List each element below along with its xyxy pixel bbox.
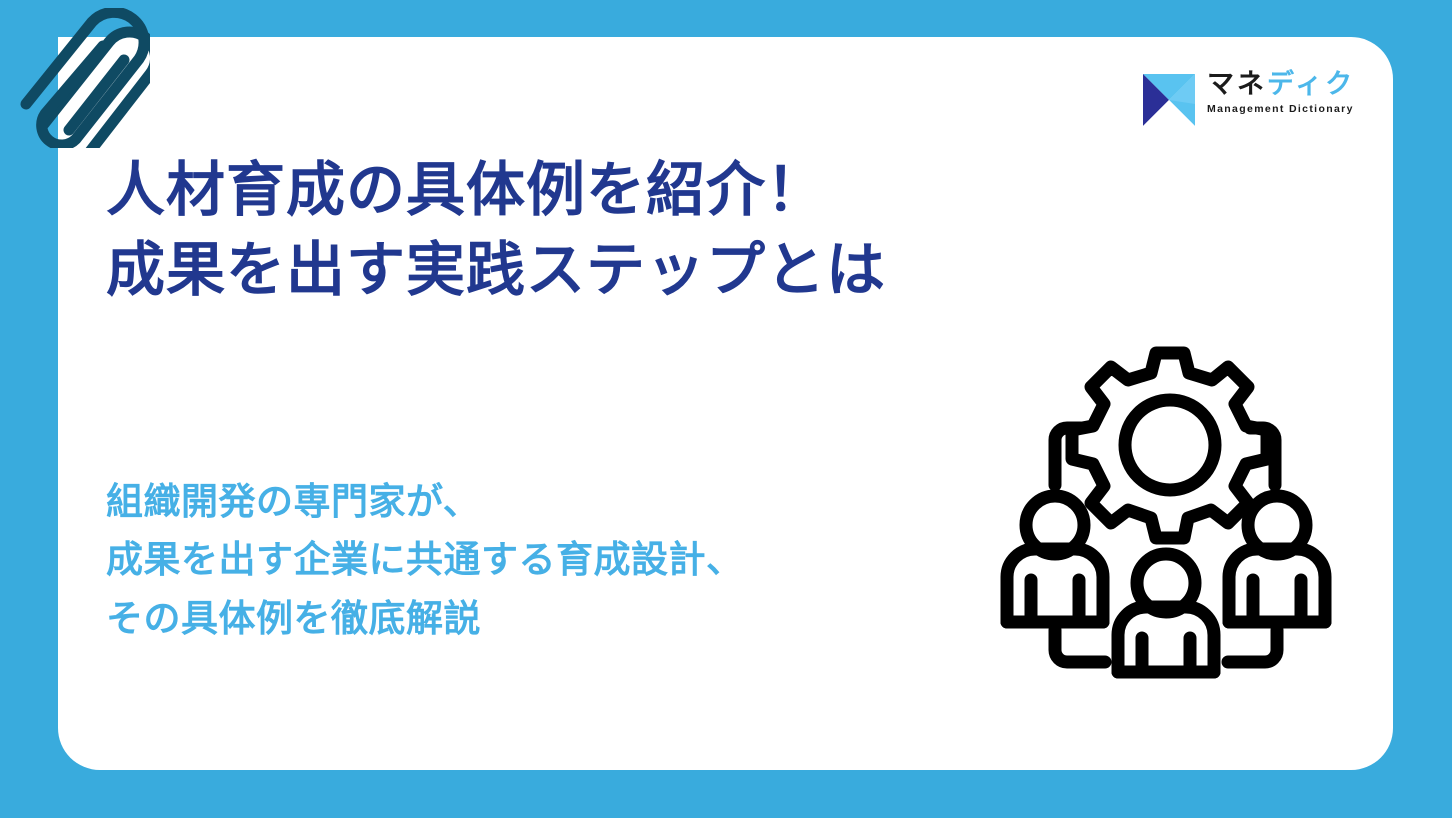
connector-bracket-bottom-right: [1228, 630, 1277, 662]
subhead-line-3: その具体例を徹底解説: [106, 590, 1006, 648]
logo-text-block: マネディク Management Dictionary: [1207, 70, 1355, 115]
subhead-line-2: 成果を出す企業に共通する育成設計、: [106, 531, 1006, 589]
person-right-icon: [1229, 496, 1325, 622]
logo-wordmark-light: ディク: [1267, 69, 1355, 99]
logo-wordmark-dark: マネ: [1207, 69, 1267, 99]
logo-tagline: Management Dictionary: [1207, 103, 1355, 115]
page-title: 人材育成の具体例を紹介！ 成果を出す実践ステップとは: [106, 150, 1006, 310]
gear-hub: [1125, 400, 1215, 490]
connector-bracket-bottom-left: [1055, 630, 1105, 662]
gear-icon: [1072, 353, 1267, 538]
page-subtitle: 組織開発の専門家が、 成果を出す企業に共通する育成設計、 その具体例を徹底解説: [106, 473, 1006, 648]
subhead-line-1: 組織開発の専門家が、: [106, 473, 1006, 531]
brand-logo: マネディク Management Dictionary: [1143, 70, 1368, 132]
logo-mark-icon: [1143, 74, 1195, 126]
headline-line-2: 成果を出す実践ステップとは: [106, 230, 1006, 310]
paperclip-icon: [14, 8, 150, 148]
team-gear-icon: [1000, 340, 1340, 680]
slide-canvas: マネディク Management Dictionary 人材育成の具体例を紹介！…: [0, 0, 1452, 818]
headline-line-1: 人材育成の具体例を紹介！: [106, 150, 1006, 230]
logo-wordmark: マネディク: [1207, 70, 1355, 98]
person-center-icon: [1118, 554, 1214, 672]
person-left-icon: [1007, 496, 1103, 622]
